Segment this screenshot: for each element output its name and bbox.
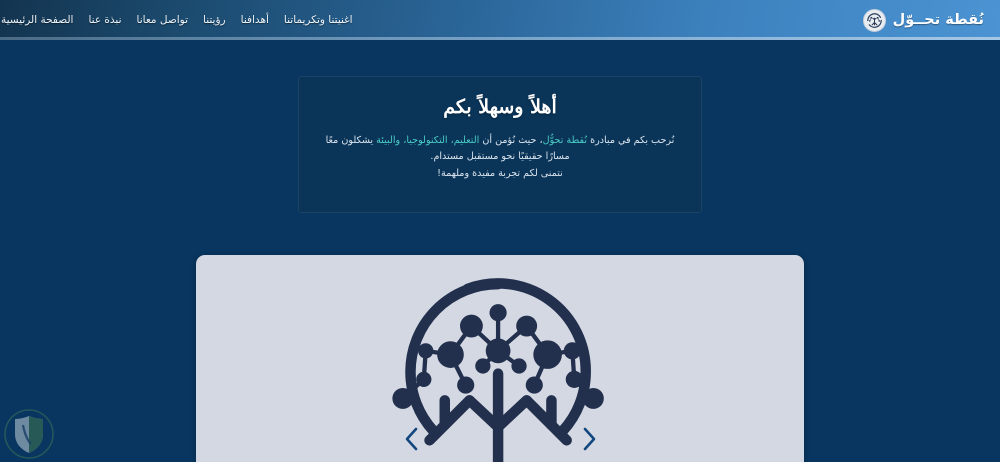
shield-badge-icon [3, 408, 55, 460]
welcome-line1-part-a: نُرحب بكم في مبادرة [587, 135, 674, 146]
chevron-right-icon [581, 426, 598, 452]
carousel-prev-button[interactable] [394, 422, 428, 456]
nav-link-vision[interactable]: رؤيتنا [202, 12, 227, 29]
image-carousel[interactable] [196, 255, 804, 462]
welcome-body: نُرحب بكم في مبادرة نُقطة تحوُّل، حيث نُ… [299, 133, 701, 183]
nav-link-about[interactable]: نبذة عنا [87, 12, 122, 29]
welcome-line-1: نُرحب بكم في مبادرة نُقطة تحوُّل، حيث نُ… [313, 133, 687, 150]
carousel-slide [196, 255, 804, 462]
welcome-line1-highlight-pillars: التعليم، التكنولوجيا، والبيئة [376, 135, 479, 146]
welcome-line-3: نتمنى لكم تجربة مفيدة وملهمة! [313, 166, 687, 183]
carousel-next-button[interactable] [572, 422, 606, 456]
welcome-line1-part-c: يشكلون معًا [326, 135, 377, 146]
chevron-left-icon [403, 426, 420, 452]
top-navigation-bar: نُقطة تحــوّل [0, 0, 1000, 40]
nav-link-home[interactable]: الصفحة الرئيسية [0, 12, 74, 29]
brand[interactable]: نُقطة تحــوّل [859, 9, 984, 32]
welcome-card: أهلاً وسهلاً بكم نُرحب بكم في مبادرة نُق… [298, 76, 702, 213]
tree-network-logo-icon [863, 9, 886, 32]
welcome-title: أهلاً وسهلاً بكم [299, 96, 701, 119]
welcome-line-2: مسارًا حقيقيًا نحو مستقبل مستدام. [313, 149, 687, 166]
welcome-line1-part-b: ، حيث نُؤمن أن [479, 135, 542, 146]
nav-link-goals[interactable]: أهدافنا [240, 12, 270, 29]
welcome-line1-highlight-brand: نُقطة تحوُّل [543, 135, 587, 146]
brand-name: نُقطة تحــوّل [893, 12, 984, 28]
nav-link-song-awards[interactable]: اغنيتنا وتكريماتنا [283, 12, 354, 29]
nav-link-contact[interactable]: تواصل معانا [136, 12, 189, 29]
main-nav: اغنيتنا وتكريماتنا أهدافنا رؤيتنا تواصل … [0, 12, 370, 29]
nav-links-group: اغنيتنا وتكريماتنا أهدافنا رؤيتنا تواصل … [0, 0, 370, 40]
